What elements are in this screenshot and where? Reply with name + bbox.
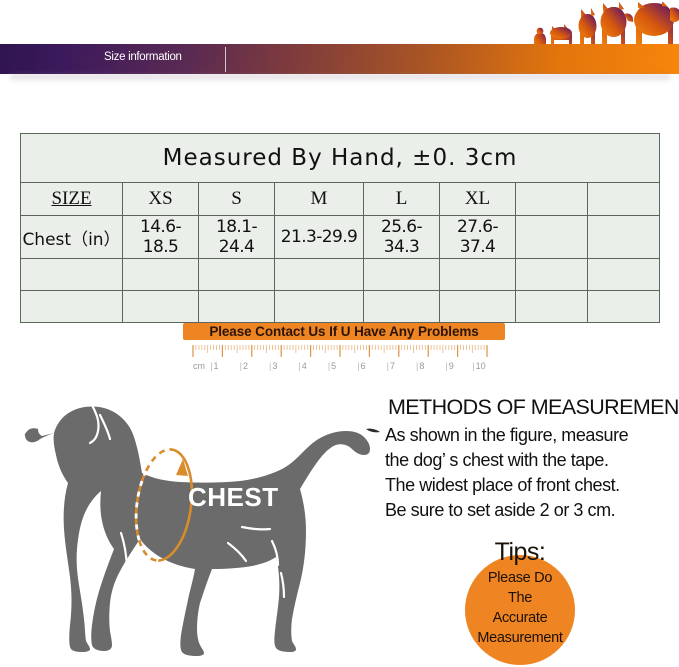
ruler-unit-label: cm [193, 361, 205, 371]
tips-line: The [458, 588, 582, 608]
dog-body-silhouette [25, 407, 370, 657]
table-row: Chest（in） 14.6-18.5 18.1-24.4 21.3-29.9 … [21, 216, 660, 259]
methods-line: The widest place of front chest. [385, 473, 677, 498]
cell-empty [516, 291, 588, 323]
ruler-tick-label: |10 [472, 361, 485, 371]
row-label-empty-1 [21, 259, 123, 291]
cell-empty [199, 291, 275, 323]
cell-empty [123, 291, 199, 323]
cell-empty [364, 291, 440, 323]
row-label-chest: Chest（in） [21, 216, 123, 259]
tips-heading: Tips: [465, 538, 575, 567]
tips-line: Measurement [458, 628, 582, 648]
column-header-xs: XS [123, 183, 199, 216]
row-label-empty-2 [21, 291, 123, 323]
size-table-container: Measured By Hand, ±0. 3cm SIZE XS S M L … [20, 133, 659, 323]
banner-divider [225, 47, 226, 72]
table-header-row: SIZE XS S M L XL [21, 183, 660, 216]
cell-chest-xl: 27.6-37.4 [440, 216, 516, 259]
contact-banner: Please Contact Us If U Have Any Problems [183, 323, 505, 340]
cell-empty [275, 291, 364, 323]
ruler-tick-label: |6 [357, 361, 365, 371]
cell-empty [440, 291, 516, 323]
table-title: Measured By Hand, ±0. 3cm [21, 134, 660, 183]
chest-label: CHEST [188, 482, 279, 513]
cell-chest-m: 21.3-29.9 [275, 216, 364, 259]
banner-title: Size information [104, 51, 182, 63]
dog-silhouettes-icon [528, 2, 679, 48]
cell-chest-empty-1 [516, 216, 588, 259]
ruler-tick-label: |5 [328, 361, 336, 371]
ruler-tick-label: |2 [240, 361, 248, 371]
column-header-empty-2 [588, 183, 660, 216]
cell-chest-empty-2 [588, 216, 660, 259]
column-header-xl: XL [440, 183, 516, 216]
column-header-s: S [199, 183, 275, 216]
column-header-m: M [275, 183, 364, 216]
cell-empty [364, 259, 440, 291]
dog-illustration [4, 383, 380, 667]
tips-body: Please Do The Accurate Measurement [458, 568, 582, 648]
cell-chest-l: 25.6-34.3 [364, 216, 440, 259]
cell-empty [275, 259, 364, 291]
column-header-empty-1 [516, 183, 588, 216]
header-banner-bar [0, 44, 679, 74]
page-header: Size information [0, 0, 679, 92]
ruler-tick-label: |4 [298, 361, 306, 371]
column-header-size: SIZE [21, 183, 123, 216]
cell-empty [588, 259, 660, 291]
ruler-graphic: cm|1|2|3|4|5|6|7|8|9|10 [185, 345, 495, 379]
cell-empty [440, 259, 516, 291]
methods-line: Be sure to set aside 2 or 3 cm. [385, 498, 677, 523]
ruler-tick-label: |3 [269, 361, 277, 371]
ruler-tick-label: |8 [416, 361, 424, 371]
table-row [21, 259, 660, 291]
banner-shadow [10, 74, 670, 83]
table-row [21, 291, 660, 323]
methods-body: As shown in the figure, measure the dog’… [385, 423, 677, 523]
methods-line: the dog’ s chest with the tape. [385, 448, 677, 473]
column-header-l: L [364, 183, 440, 216]
cell-empty [588, 291, 660, 323]
ruler-ticks [185, 345, 495, 358]
tips-line: Please Do [458, 568, 582, 588]
table-title-row: Measured By Hand, ±0. 3cm [21, 134, 660, 183]
size-table: Measured By Hand, ±0. 3cm SIZE XS S M L … [20, 133, 660, 323]
ruler-number-labels: cm|1|2|3|4|5|6|7|8|9|10 [185, 361, 495, 377]
ruler-tick-label: |9 [445, 361, 453, 371]
cell-empty [199, 259, 275, 291]
methods-title: METHODS OF MEASUREMENT [388, 395, 673, 420]
methods-line: As shown in the figure, measure [385, 423, 677, 448]
cell-chest-s: 18.1-24.4 [199, 216, 275, 259]
cell-empty [123, 259, 199, 291]
ruler-tick-label: |1 [210, 361, 218, 371]
bullet-icon [366, 428, 380, 435]
cell-empty [516, 259, 588, 291]
cell-chest-xs: 14.6-18.5 [123, 216, 199, 259]
ruler-tick-label: |7 [387, 361, 395, 371]
tips-line: Accurate [458, 608, 582, 628]
